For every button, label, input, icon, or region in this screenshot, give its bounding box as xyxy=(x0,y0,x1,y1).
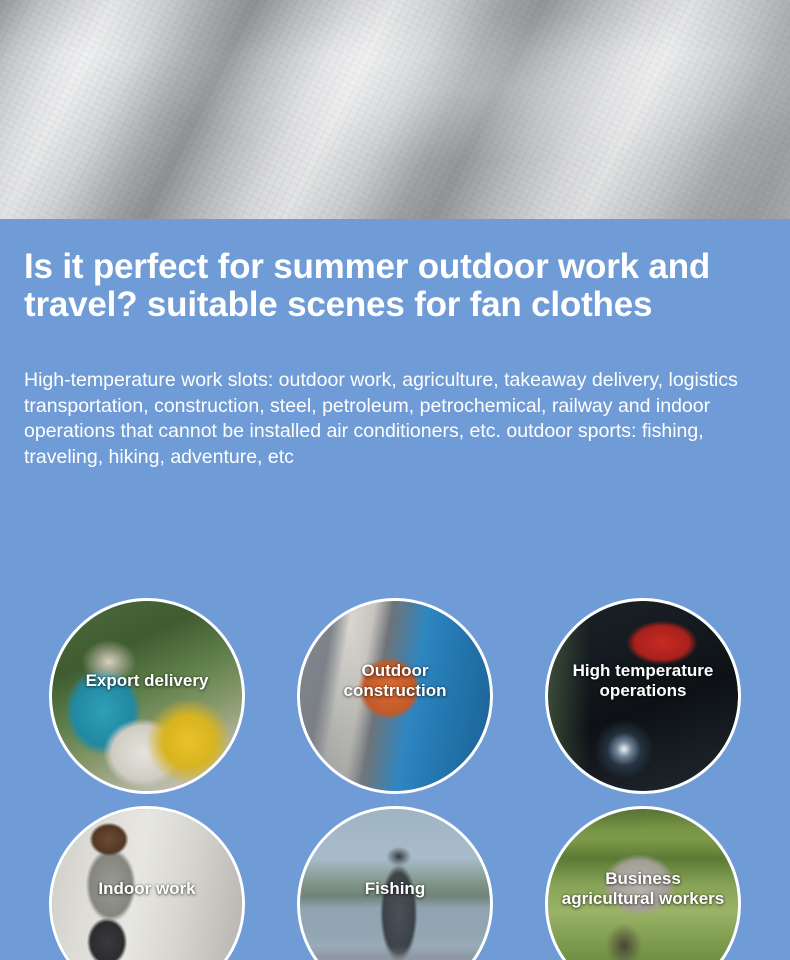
scene-label: Export delivery xyxy=(58,671,236,691)
fabric-banner-image xyxy=(0,0,790,219)
scene-card-outdoor-construction[interactable]: Outdoor construction xyxy=(297,598,493,794)
fabric-grain-overlay xyxy=(0,0,790,219)
courier-delivery-photo xyxy=(52,601,242,791)
scene-thumbnail-grid: Export delivery Outdoor construction Hig… xyxy=(0,598,790,960)
scene-label: Outdoor construction xyxy=(306,661,484,701)
scene-label: Business agricultural workers xyxy=(554,869,732,909)
scene-label: Indoor work xyxy=(58,879,236,899)
scene-label: High temperature operations xyxy=(554,661,732,701)
scene-card-fishing[interactable]: Fishing xyxy=(297,806,493,960)
page-title: Is it perfect for summer outdoor work an… xyxy=(24,248,714,324)
text-content-block: Is it perfect for summer outdoor work an… xyxy=(0,219,790,471)
product-detail-page: Is it perfect for summer outdoor work an… xyxy=(0,0,790,960)
scene-card-indoor-work[interactable]: Indoor work xyxy=(49,806,245,960)
scene-label: Fishing xyxy=(306,879,484,899)
scene-card-business-agricultural-workers[interactable]: Business agricultural workers xyxy=(545,806,741,960)
description-paragraph: High-temperature work slots: outdoor wor… xyxy=(24,368,766,472)
scene-card-export-delivery[interactable]: Export delivery xyxy=(49,598,245,794)
scene-card-high-temperature-operations[interactable]: High temperature operations xyxy=(545,598,741,794)
